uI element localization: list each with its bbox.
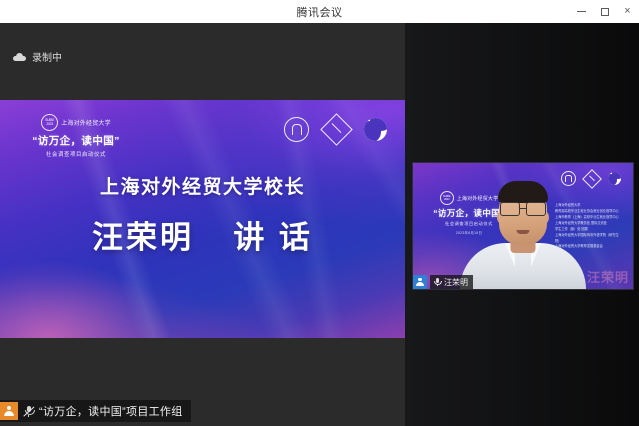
window-titlebar: 腾讯会议 ×: [0, 0, 639, 24]
participant-video-thumbnail[interactable]: SUIBE 2023 上海对外经贸大学 “访万企，读中国” 社会调查项目启动仪式…: [412, 162, 634, 290]
university-seal-logo-icon: [284, 117, 309, 142]
swirl-logo-icon: [364, 118, 387, 141]
thumbnail-nameplate-body: 汪荣明: [430, 275, 473, 289]
speaker-hair: [498, 181, 548, 203]
mic-muted-icon: [23, 405, 34, 418]
glasses-lens-right: [526, 202, 546, 216]
window-controls: ×: [570, 0, 639, 23]
suibe-ring-icon: SUIBE 2023: [41, 114, 58, 131]
recording-indicator[interactable]: 录制中: [13, 49, 62, 64]
maximize-icon: [601, 8, 609, 16]
diamond-logo-icon: [320, 113, 353, 146]
mic-stem: [437, 284, 438, 286]
slide-heading-line2: 汪荣明 讲 话: [0, 212, 405, 257]
person-avatar-icon: [0, 402, 18, 420]
swirl-logo-icon: [608, 172, 621, 185]
presentation-slide: SUIBE 2023 上海对外经贸大学 “访万企，读中国” 社会调查项目启动仪式: [0, 100, 405, 338]
emblem-slogan: “访万企，读中国”: [22, 133, 130, 148]
thumbnail-nameplate: 汪荣明: [413, 275, 473, 289]
emblem-row: SUIBE 2023 上海对外经贸大学: [22, 114, 130, 131]
cloud-icon: [13, 53, 26, 61]
emblem-subtitle: 社会调查项目启动仪式: [22, 150, 130, 158]
stage-presenter-name: “访万企，读中国”项目工作组: [39, 403, 183, 419]
slide-heading-block: 上海对外经贸大学校长 汪荣明 讲 话: [0, 172, 405, 257]
minimize-button[interactable]: [570, 0, 593, 23]
recording-label: 录制中: [32, 49, 62, 64]
mic-arc: [434, 281, 442, 286]
participant-name: 汪荣明: [444, 277, 468, 288]
slide-speaker-name: 汪荣明: [92, 220, 194, 255]
glasses-lens-left: [500, 202, 520, 216]
emblem-university: 上海对外经贸大学: [61, 118, 111, 127]
emblem-ring-bottom: 2023: [46, 123, 53, 126]
window-title: 腾讯会议: [297, 4, 343, 20]
slide-logo-group: [284, 117, 387, 142]
tencent-meeting-window: 腾讯会议 × 录制中: [0, 0, 639, 426]
thumbnail-watermark: 汪荣明: [587, 267, 629, 286]
shared-content-stage[interactable]: 录制中 SUIBE 2023 上海对外经贸大学 “访万企，读中国”: [0, 23, 405, 426]
avatar-glyph: [4, 406, 15, 417]
avatar-glyph: [416, 278, 425, 287]
emblem-ring-bottom: 2023: [444, 198, 449, 201]
mic-icon: [433, 277, 441, 287]
person-avatar-icon: [413, 275, 427, 289]
close-icon: ×: [624, 6, 630, 17]
maximize-button[interactable]: [593, 0, 616, 23]
speaker-mouth: [517, 230, 530, 234]
slide-pink-glow: [0, 262, 170, 338]
slide-heading-line1: 上海对外经贸大学校长: [0, 172, 405, 199]
stage-nameplate: “访万企，读中国”项目工作组: [0, 400, 191, 422]
slide-emblem: SUIBE 2023 上海对外经贸大学 “访万企，读中国” 社会调查项目启动仪式: [22, 114, 130, 158]
minimize-icon: [577, 11, 586, 12]
speaker-video-figure: [460, 177, 586, 289]
speaker-glasses: [500, 202, 546, 215]
slide-speaker-action: 讲 话: [233, 220, 313, 255]
close-button[interactable]: ×: [616, 0, 639, 23]
meeting-body: 录制中 SUIBE 2023 上海对外经贸大学 “访万企，读中国”: [0, 23, 639, 426]
suibe-ring-icon: SUIBE 2023: [440, 191, 454, 205]
mic-stem: [28, 415, 29, 418]
